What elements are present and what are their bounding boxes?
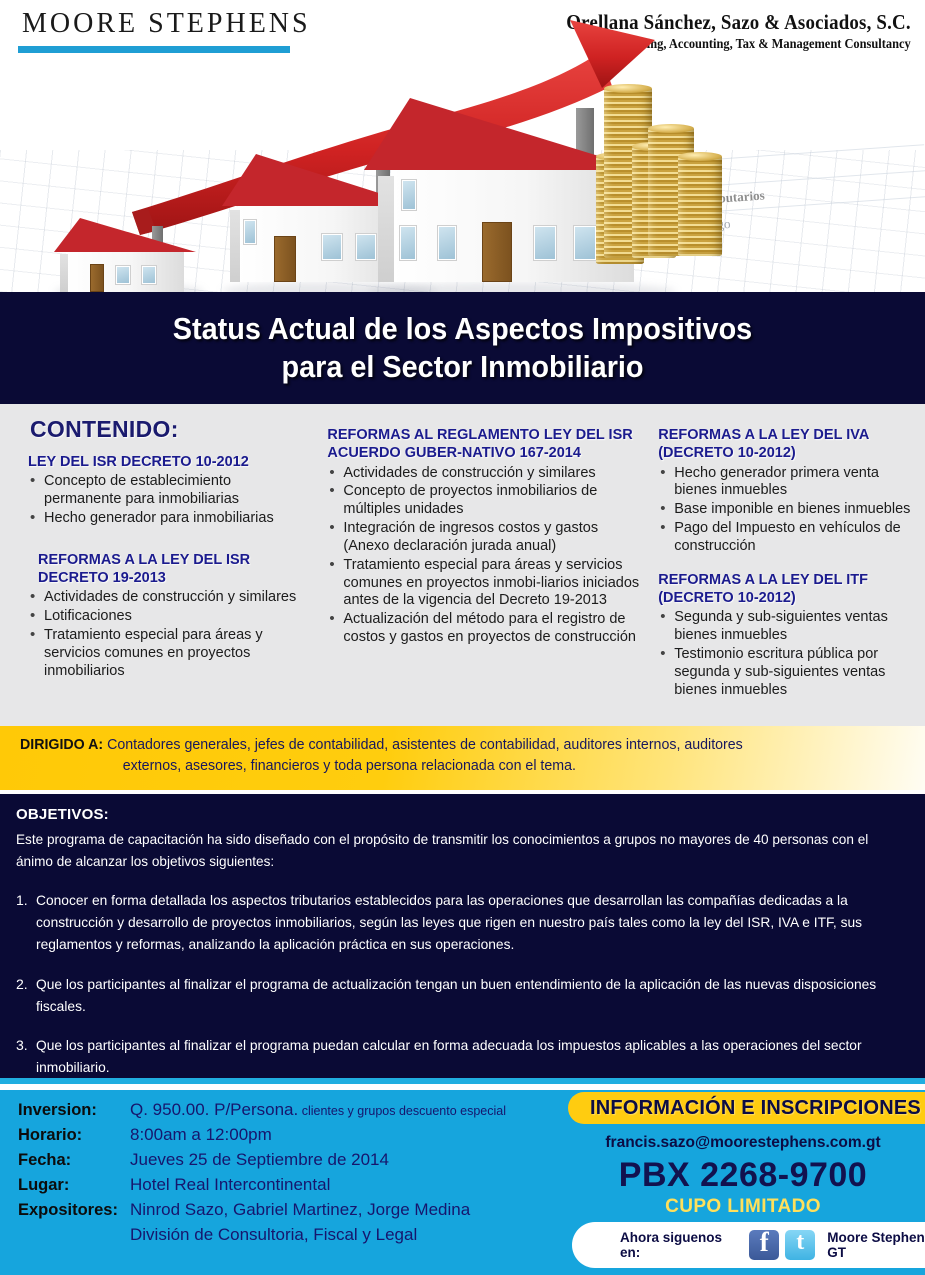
bullet-list: Actividades de construcción y similares … [28, 589, 307, 680]
contenido-column-3: REFORMAS A LA LEY DEL IVA (DECRETO 10-20… [642, 412, 913, 726]
objetivo-number: 3. [16, 1034, 36, 1078]
section-heading: REFORMAS A LA LEY DEL ISR DECRETO 19-201… [38, 551, 307, 588]
list-item: Concepto de establecimiento permanente p… [28, 473, 307, 509]
facebook-icon[interactable] [749, 1230, 779, 1260]
section-heading: REFORMAS AL REGLAMENTO LEY DEL ISR ACUER… [327, 426, 642, 463]
bullet-list: Hecho generador primera venta bienes inm… [658, 465, 913, 556]
detail-value-main: Q. 950.00. P/Persona. [130, 1100, 298, 1119]
detail-value: Jueves 25 de Septiembre de 2014 [130, 1150, 389, 1170]
page-title-line2: para el Sector Inmobiliario [281, 349, 643, 384]
objetivo-item: 2. Que los participantes al finalizar el… [16, 973, 909, 1017]
detail-value: Hotel Real Intercontinental [130, 1175, 330, 1195]
detail-row: Horario: 8:00am a 12:00pm [18, 1125, 563, 1145]
detail-row: Expositores: Ninrod Sazo, Gabriel Martin… [18, 1200, 563, 1220]
window [322, 234, 342, 260]
detail-row: Inversion: Q. 950.00. P/Persona. cliente… [18, 1100, 563, 1120]
contact-phone: PBX 2268-9700 [568, 1156, 918, 1195]
dirigido-a-band: DIRIGIDO A: Contadores generales, jefes … [0, 726, 925, 790]
bottom-section: Inversion: Q. 950.00. P/Persona. cliente… [0, 1090, 925, 1275]
detail-value: 8:00am a 12:00pm [130, 1125, 272, 1145]
objetivo-text: Conocer en forma detallada los aspectos … [36, 889, 896, 955]
house-side-wall [378, 176, 394, 282]
detail-value-note: clientes y grupos descuento especial [298, 1104, 506, 1118]
page-title: Status Actual de los Aspectos Impositivo… [173, 310, 752, 386]
objetivos-heading: OBJETIVOS: [16, 806, 909, 823]
list-item: Actualización del método para el registr… [327, 611, 642, 647]
section-heading: REFORMAS A LA LEY DEL IVA (DECRETO 10-20… [658, 426, 913, 463]
objetivos-section: OBJETIVOS: Este programa de capacitación… [0, 790, 925, 1078]
poster-title-bar: Status Actual de los Aspectos Impositivo… [0, 292, 925, 404]
follow-us-label: Ahora siguenos en: [620, 1230, 743, 1260]
dirigido-line-1: DIRIGIDO A: Contadores generales, jefes … [20, 735, 872, 756]
detail-value: Ninrod Sazo, Gabriel Martinez, Jorge Med… [130, 1200, 470, 1220]
window [116, 266, 130, 284]
list-item: Pago del Impuesto en vehículos de constr… [658, 520, 913, 556]
hero-banner: MOORE STEPHENS Orellana Sánchez, Sazo & … [0, 0, 925, 292]
coin-stack [678, 156, 722, 256]
detail-label: Lugar: [18, 1176, 130, 1195]
contact-email[interactable]: francis.sazo@moorestephens.com.gt [568, 1134, 918, 1152]
bullet-list: Segunda y sub-siguientes ventas bienes i… [658, 609, 913, 699]
objetivo-item: 3. Que los participantes al finalizar el… [16, 1034, 909, 1078]
detail-label: Fecha: [18, 1151, 130, 1170]
list-item: Segunda y sub-siguientes ventas bienes i… [658, 609, 913, 645]
poster-root: MOORE STEPHENS Orellana Sánchez, Sazo & … [0, 0, 925, 1275]
dirigido-label: DIRIGIDO A: [20, 737, 103, 753]
page-title-line1: Status Actual de los Aspectos Impositivo… [173, 311, 752, 346]
window [244, 220, 256, 244]
detail-row: Lugar: Hotel Real Intercontinental [18, 1175, 563, 1195]
contenido-column-1: CONTENIDO: LEY DEL ISR DECRETO 10-2012 C… [12, 412, 307, 726]
window [534, 226, 556, 260]
objetivo-number: 1. [16, 889, 36, 955]
list-item: Lotificaciones [28, 608, 307, 626]
detail-subline: División de Consultoria, Fiscal y Legal [130, 1225, 563, 1245]
window [402, 180, 416, 210]
detail-row: Fecha: Jueves 25 de Septiembre de 2014 [18, 1150, 563, 1170]
cyan-divider [0, 1078, 925, 1084]
event-details: Inversion: Q. 950.00. P/Persona. cliente… [18, 1100, 563, 1245]
door [274, 236, 296, 282]
dirigido-text-1: Contadores generales, jefes de contabili… [107, 737, 743, 753]
informacion-inscripciones-pill: INFORMACIÓN E INSCRIPCIONES [568, 1092, 925, 1124]
contenido-column-2: REFORMAS AL REGLAMENTO LEY DEL ISR ACUER… [307, 412, 642, 726]
house-shadow [368, 282, 676, 292]
list-item: Hecho generador para inmobiliarias [28, 510, 307, 528]
contenido-heading: CONTENIDO: [30, 416, 307, 443]
window [400, 226, 416, 260]
dirigido-line-2: externos, asesores, financieros y toda p… [20, 756, 872, 777]
objetivo-text: Que los participantes al finalizar el pr… [36, 1034, 896, 1078]
roof [54, 218, 196, 252]
detail-label: Horario: [18, 1126, 130, 1145]
list-item: Tratamiento especial para áreas y servic… [327, 557, 642, 610]
list-item: Testimonio escritura pública por segunda… [658, 646, 913, 699]
list-item: Tratamiento especial para áreas y servic… [28, 627, 307, 680]
window [356, 234, 376, 260]
objetivo-text: Que los participantes al finalizar el pr… [36, 973, 896, 1017]
social-footer: Ahora siguenos en: Moore Stephens GT [572, 1222, 925, 1268]
detail-label: Inversion: [18, 1101, 130, 1120]
list-item: Concepto de proyectos inmobiliarios de m… [327, 483, 642, 519]
house-side-wall [60, 254, 68, 292]
social-account-name: Moore Stephens GT [827, 1230, 925, 1260]
door [482, 222, 512, 282]
list-item: Integración de ingresos costos y gastos … [327, 520, 642, 556]
house-small [60, 240, 200, 292]
window [574, 226, 596, 260]
list-item: Actividades de construcción y similares [28, 589, 307, 607]
window [142, 266, 156, 284]
twitter-icon[interactable] [785, 1230, 815, 1260]
informacion-inscripciones-label: INFORMACIÓN E INSCRIPCIONES [590, 1097, 921, 1120]
bullet-list: Actividades de construcción y similares … [327, 465, 642, 647]
door [90, 264, 104, 292]
cupo-limitado-badge: CUPO LIMITADO [568, 1196, 918, 1218]
section-heading: LEY DEL ISR DECRETO 10-2012 [28, 453, 307, 471]
section-heading: REFORMAS A LA LEY DEL ITF (DECRETO 10-20… [658, 571, 913, 608]
objetivo-number: 2. [16, 973, 36, 1017]
list-item: Base imponible en bienes inmuebles [658, 501, 913, 519]
list-item: Hecho generador primera venta bienes inm… [658, 465, 913, 501]
bullet-list: Concepto de establecimiento permanente p… [28, 473, 307, 527]
house-side-wall [230, 210, 240, 282]
list-item: Actividades de construcción y similares [327, 465, 642, 483]
objetivo-item: 1. Conocer en forma detallada los aspect… [16, 889, 909, 955]
contenido-section: CONTENIDO: LEY DEL ISR DECRETO 10-2012 C… [0, 404, 925, 726]
detail-label: Expositores: [18, 1201, 130, 1220]
detail-value: Q. 950.00. P/Persona. clientes y grupos … [130, 1100, 506, 1120]
objetivos-intro: Este programa de capacitación ha sido di… [16, 828, 882, 872]
window [438, 226, 456, 260]
